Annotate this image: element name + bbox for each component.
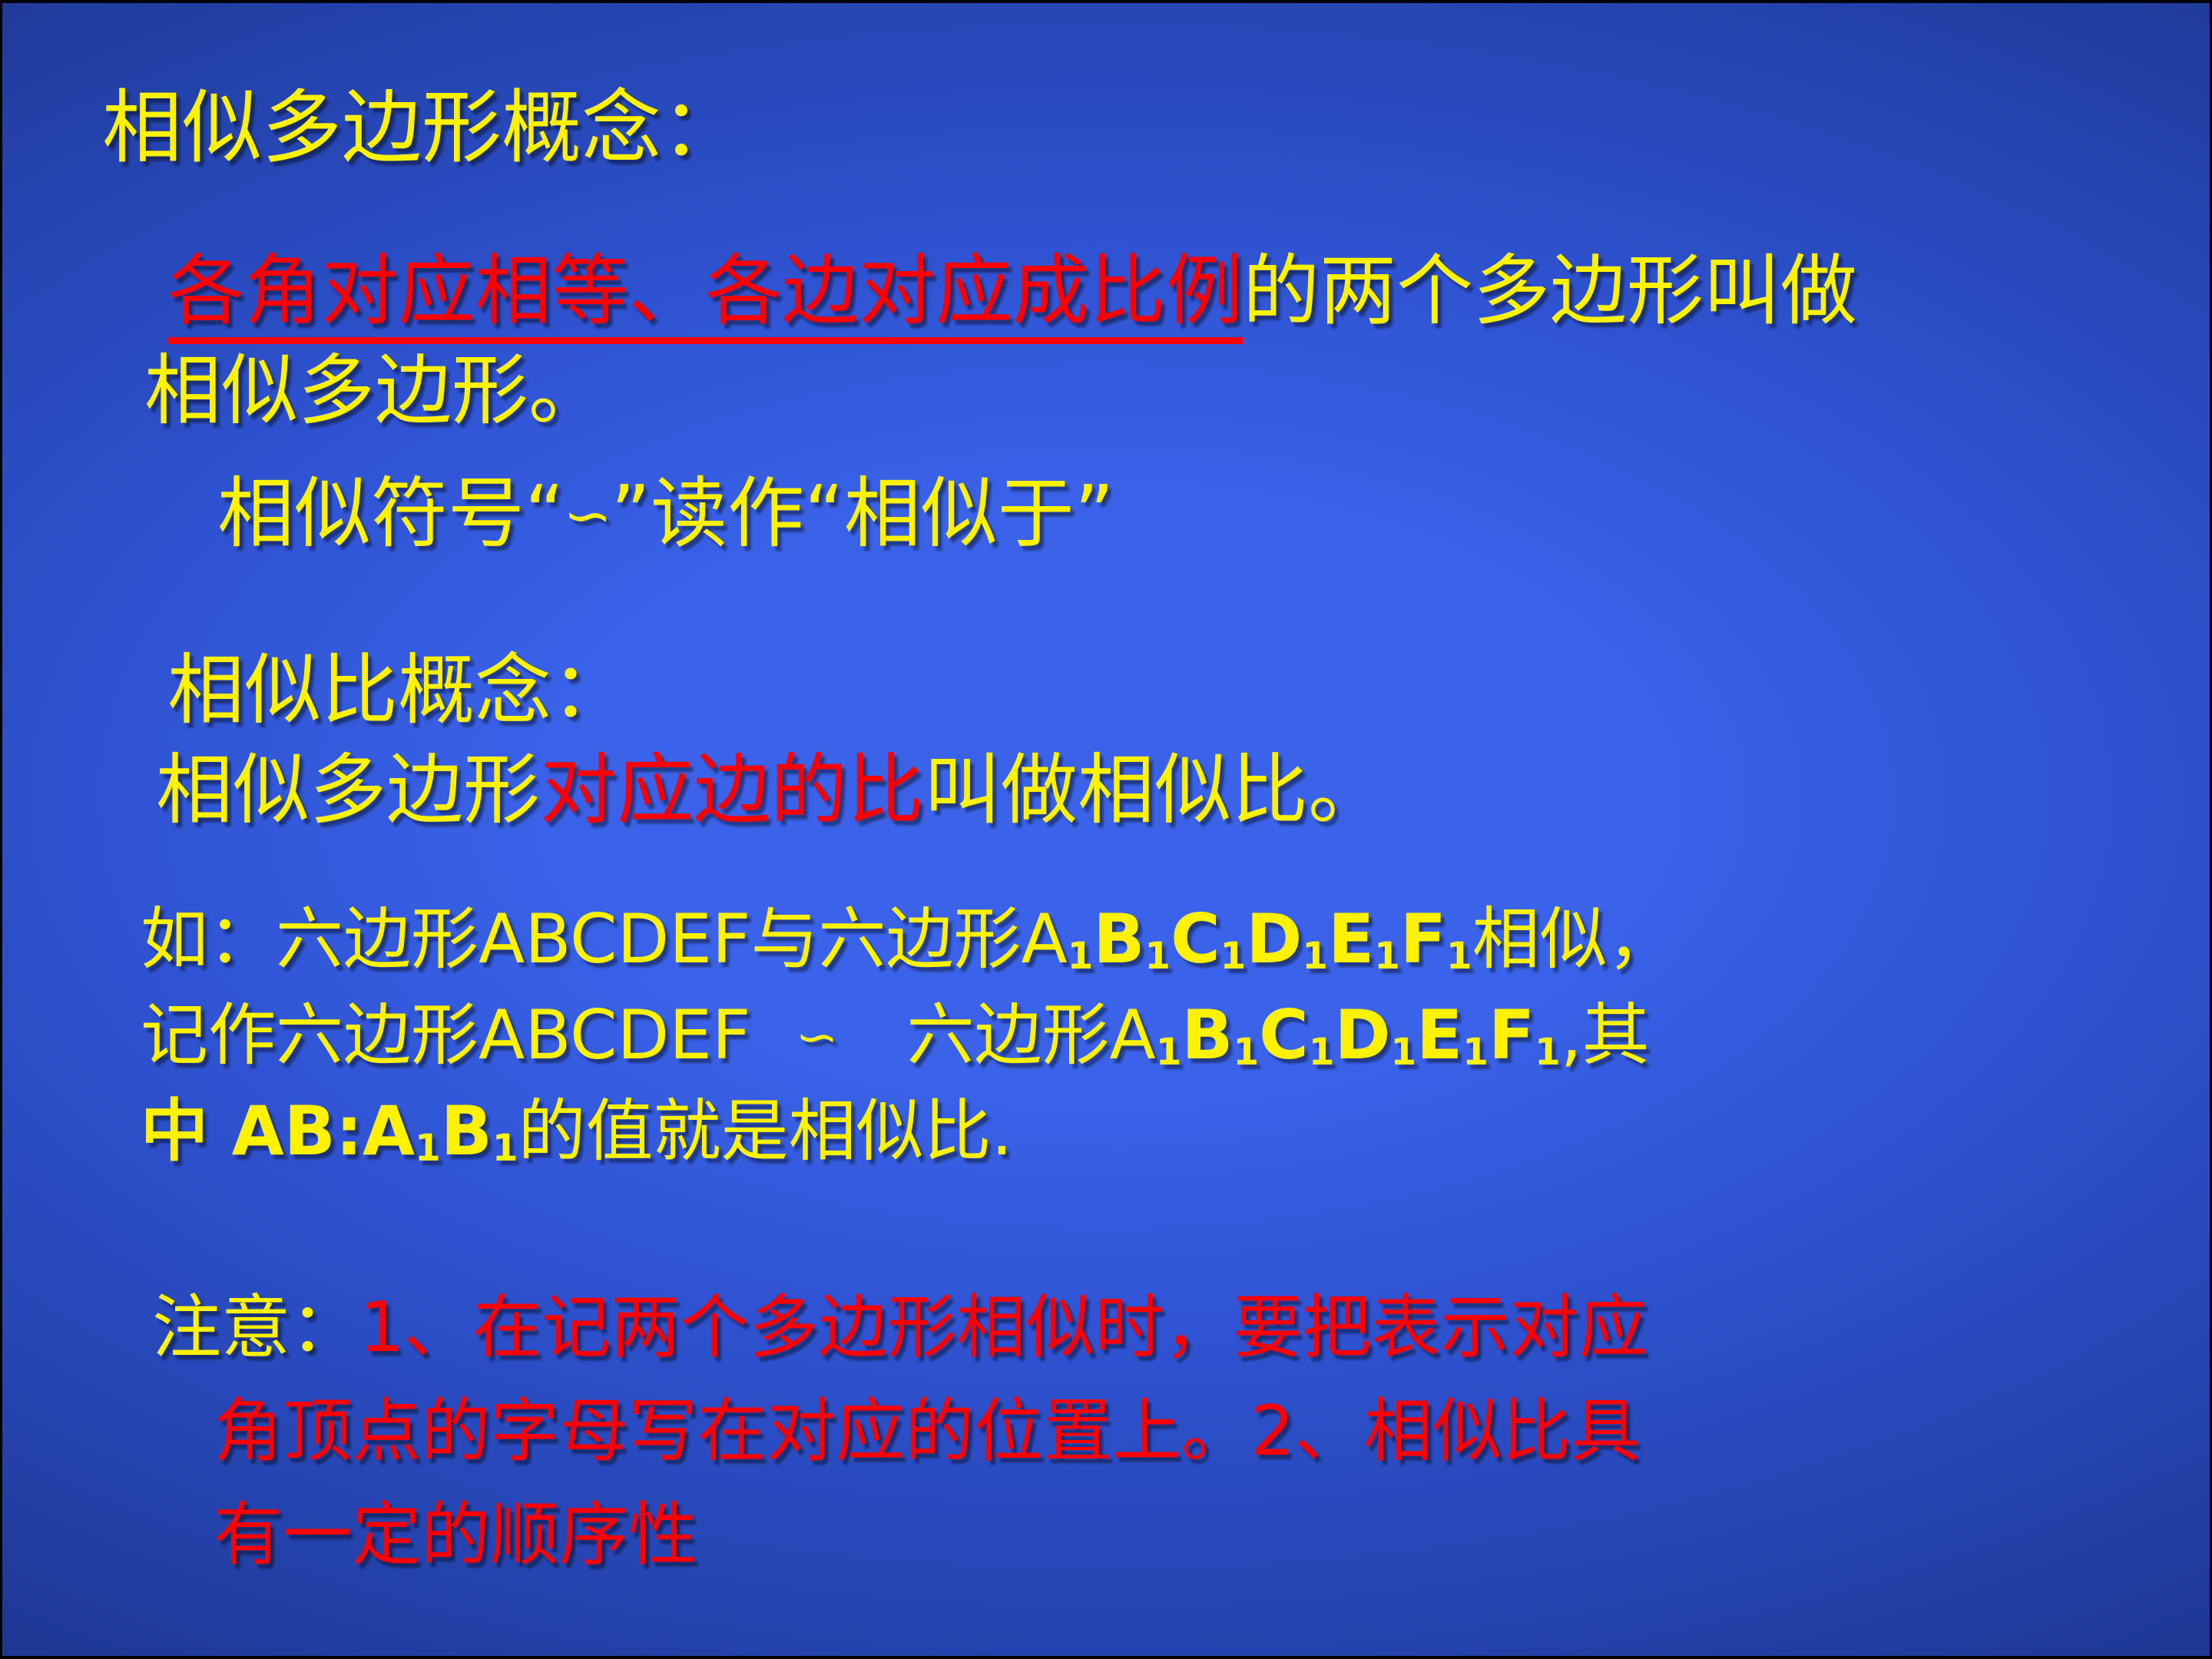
subscript-a1-2: 1	[1156, 1031, 1182, 1074]
subscript-f1-2: 1	[1535, 1031, 1561, 1074]
presentation-slide: 相似多边形概念： 各角对应相等、各边对应成比例的两个多边形叫做 相似多边形。 相…	[0, 0, 2212, 1659]
ratio-body: 相似多边形对应边的比叫做相似比。	[156, 752, 1385, 829]
ratio-body-post: 叫做相似比。	[924, 745, 1385, 835]
definition-line-1-rest: 的两个多边形叫做	[1243, 246, 1857, 336]
subscript-e1-2: 1	[1462, 1031, 1488, 1074]
example-line-1-c: C	[1171, 899, 1220, 979]
subscript-d1: 1	[1302, 935, 1328, 978]
symbol-line-prefix: 相似符号“	[217, 469, 565, 558]
example-line-1-g: 相似，	[1472, 899, 1675, 979]
example-line-2-g: F	[1488, 995, 1535, 1075]
example-line-3: 中 AB:A1B1的值就是相似比.	[141, 1098, 1013, 1165]
subscript-f1: 1	[1446, 935, 1472, 978]
example-line-2: 记作六边形ABCDEF∽六边形A1B1C1D1E1F1,其	[141, 1002, 1650, 1069]
note-item-2-a: 角顶点的字母写在对应的位置上。	[214, 1391, 1250, 1472]
page-title: 相似多边形概念：	[102, 88, 741, 167]
example-line-2-b: 六边形A	[907, 995, 1156, 1075]
definition-line-1: 各角对应相等、各边对应成比例的两个多边形叫做	[167, 253, 1857, 329]
note-item-2-b: 2、相似比具	[1250, 1391, 1640, 1472]
example-line-2-e: D	[1334, 995, 1390, 1075]
example-line-1-d: D	[1246, 899, 1302, 979]
symbol-line-suffix: ”读作“相似于”	[611, 469, 1114, 558]
example-line-1: 如：六边形ABCDEF与六边形A1B1C1D1E1F1相似，	[141, 906, 1675, 973]
ratio-heading: 相似比概念：	[167, 652, 628, 729]
similarity-symbol-icon: ∽	[563, 488, 611, 543]
example-line-2-d: C	[1259, 995, 1309, 1075]
subscript-a1: 1	[1068, 935, 1094, 978]
ratio-body-pre: 相似多边形	[156, 745, 540, 835]
example-line-1-e: E	[1328, 899, 1374, 979]
example-line-3-a: 中 AB:A	[141, 1091, 415, 1171]
example-line-1-a: 如：六边形ABCDEF与六边形A	[141, 899, 1068, 979]
subscript-b1-2: 1	[1233, 1031, 1260, 1074]
note-item-3: 有一定的顺序性	[214, 1501, 697, 1570]
note-item-1: 1、在记两个多边形相似时，要把表示对应	[359, 1287, 1647, 1368]
definition-highlight: 各角对应相等、各边对应成比例	[167, 246, 1243, 344]
example-line-1-b: B	[1093, 899, 1144, 979]
subscript-d1-2: 1	[1390, 1031, 1416, 1074]
example-line-3-b: B	[441, 1091, 492, 1171]
example-line-2-f: E	[1416, 995, 1462, 1075]
example-line-2-a: 记作六边形ABCDEF	[141, 995, 750, 1075]
example-line-2-c: B	[1181, 995, 1233, 1075]
ratio-body-highlight: 对应边的比	[540, 745, 924, 835]
subscript-c1-2: 1	[1309, 1031, 1335, 1074]
subscript-b1: 1	[1144, 935, 1171, 978]
similarity-symbol-icon-2: ∽	[796, 1013, 839, 1061]
example-line-3-c: 的值就是相似比.	[518, 1091, 1013, 1171]
subscript-c1: 1	[1220, 935, 1247, 978]
similarity-symbol-line: 相似符号“∽”读作“相似于”	[217, 475, 1114, 552]
note-line-1: 注意：1、在记两个多边形相似时，要把表示对应	[152, 1293, 1647, 1363]
note-line-2: 角顶点的字母写在对应的位置上。2、相似比具	[214, 1397, 1640, 1466]
subscript-a1-3: 1	[415, 1127, 441, 1170]
subscript-e1: 1	[1374, 935, 1400, 978]
example-line-1-f: F	[1400, 899, 1446, 979]
subscript-b1-3: 1	[492, 1127, 518, 1170]
note-label: 注意：	[152, 1287, 359, 1368]
definition-line-2: 相似多边形。	[144, 353, 605, 429]
example-line-2-tail: ,其	[1561, 995, 1650, 1075]
slide-content: 相似多边形概念： 各角对应相等、各边对应成比例的两个多边形叫做 相似多边形。 相…	[2, 3, 2212, 1659]
